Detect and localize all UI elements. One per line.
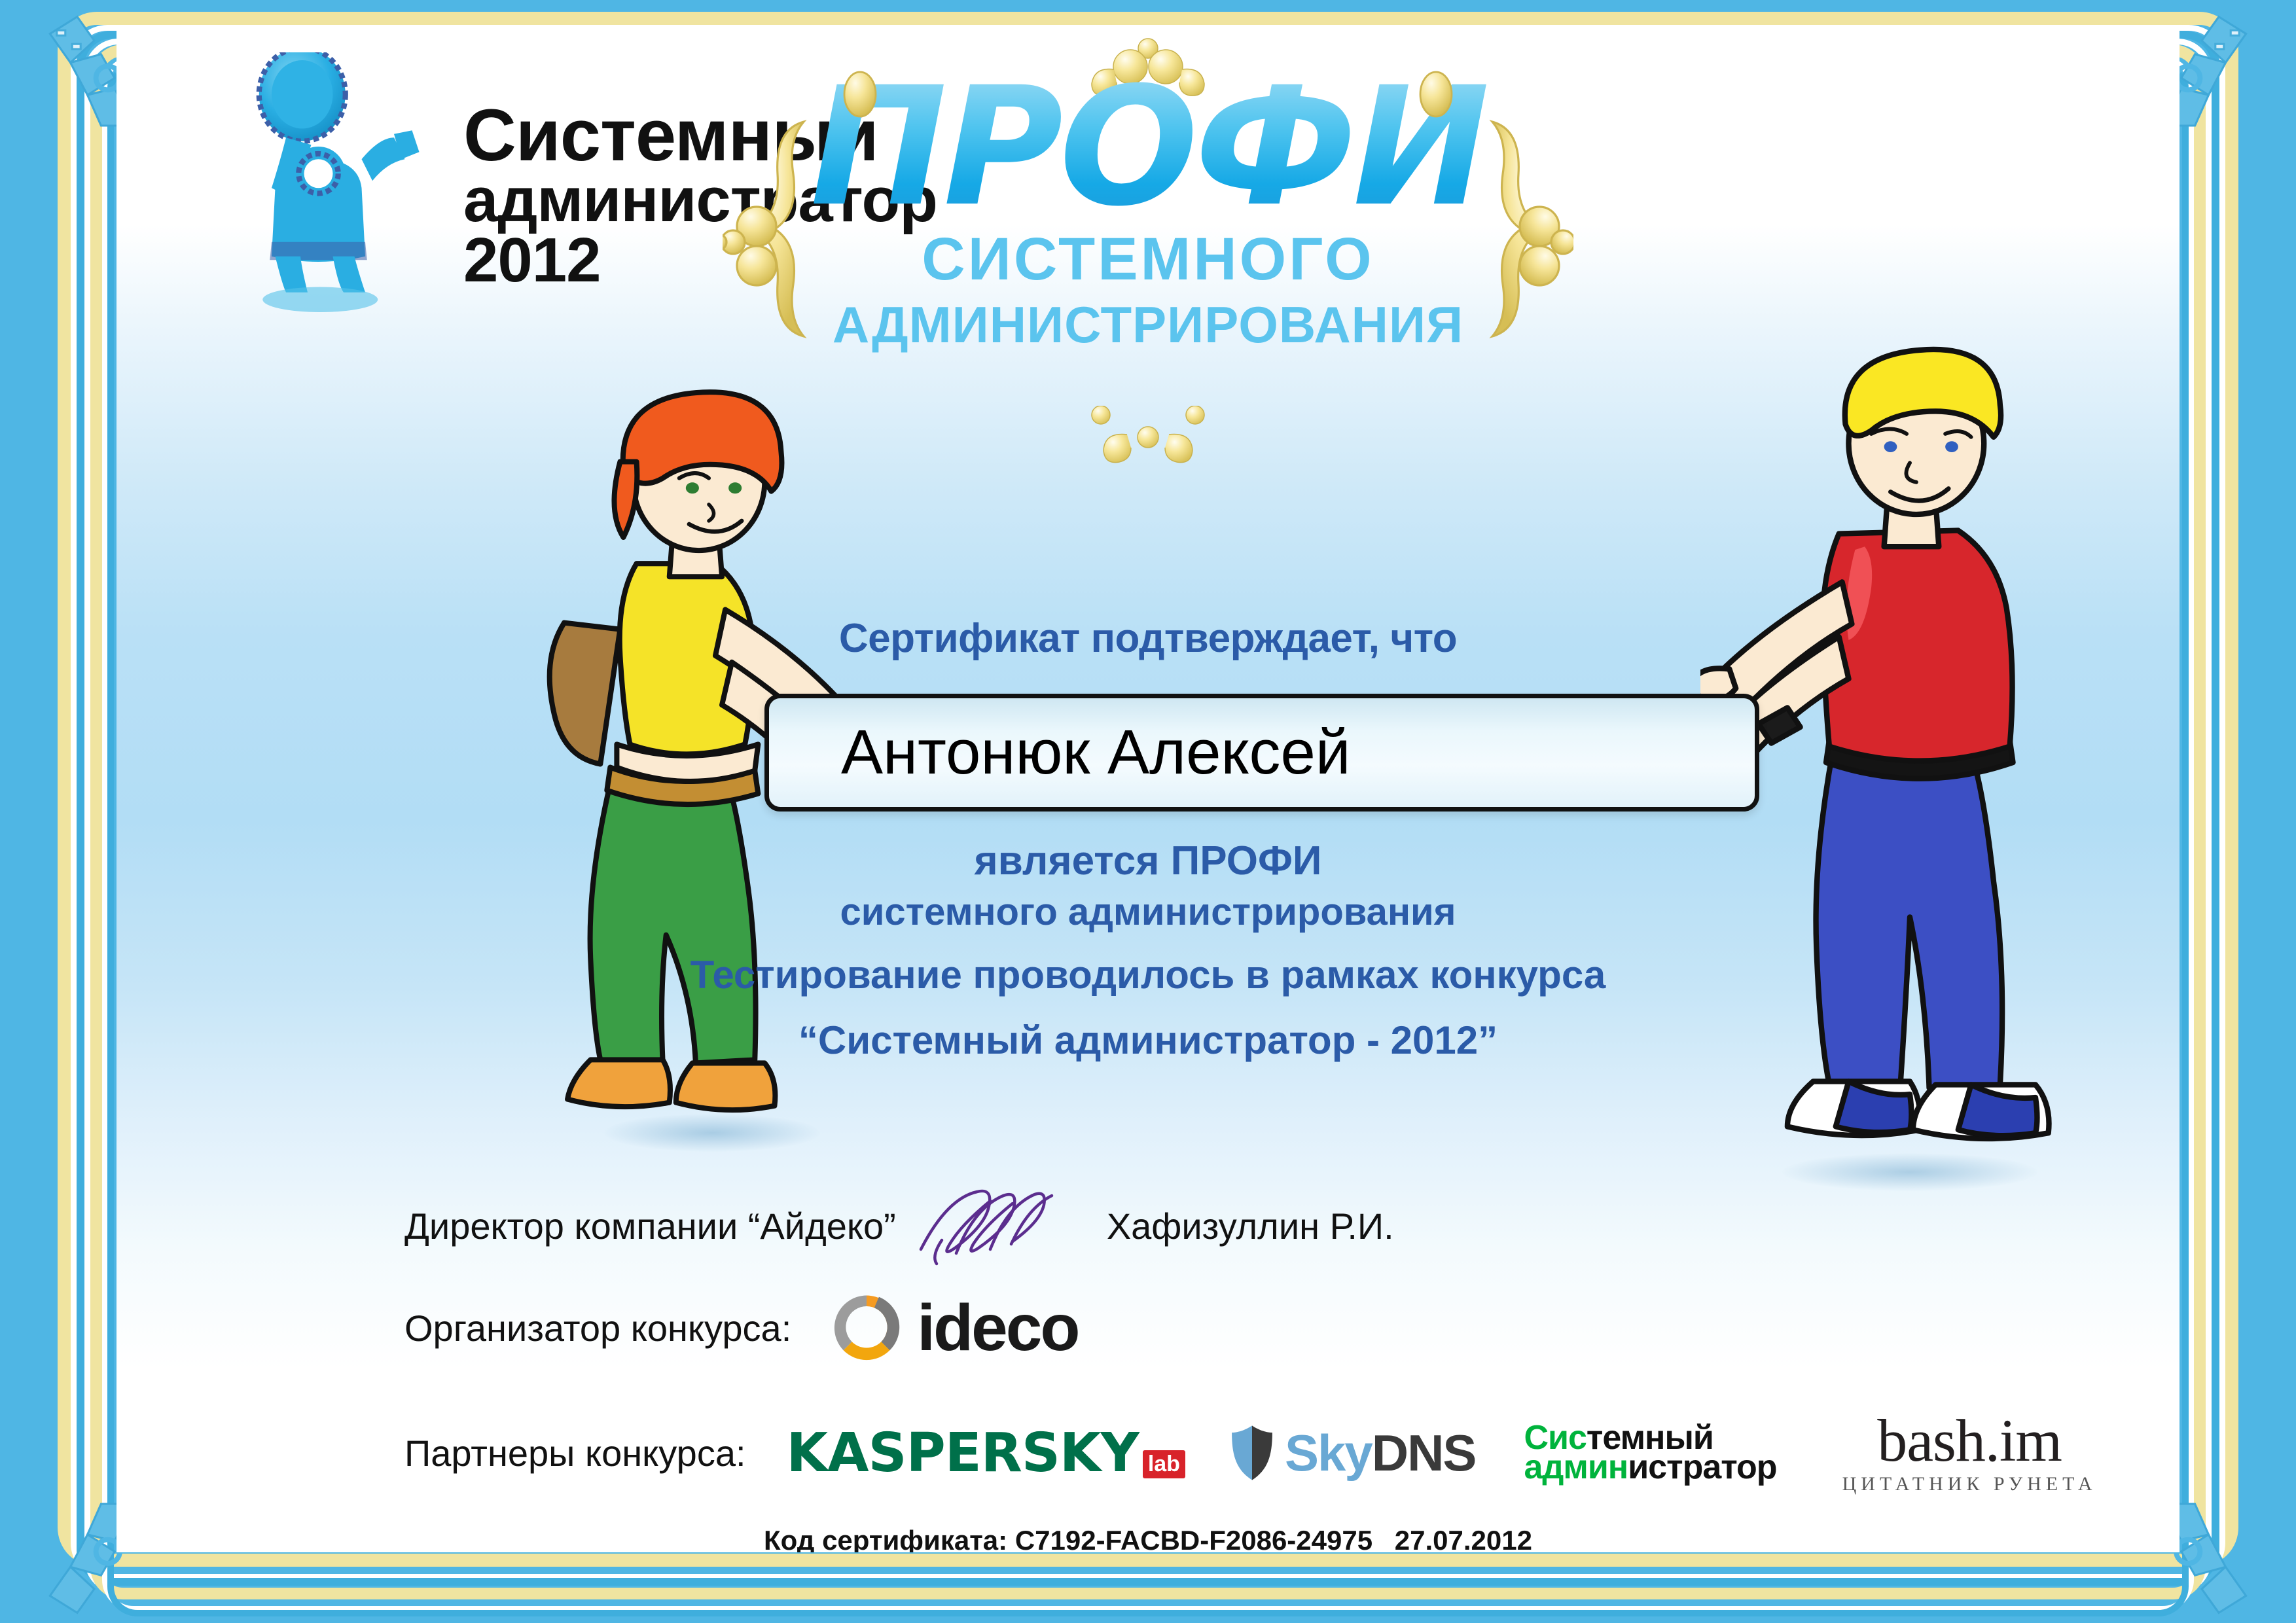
gold-drop-left-icon [840, 65, 880, 124]
kaspersky-lab-badge: lab [1143, 1450, 1185, 1478]
certificate-root: Системный администратор 2012 [0, 0, 2296, 1623]
signature-row: Директор компании “Айдеко” Хафизуллин Р.… [404, 1183, 1583, 1268]
certificate-code-footer: Код сертификата: C7192-FACBD-F2086-24975… [117, 1525, 2179, 1552]
recipient-name: Антонюк Алексей [769, 717, 1351, 789]
of-sysadmin-line: системного администрирования [117, 890, 2179, 934]
sysadmin-mag-row2-green: админ [1524, 1448, 1628, 1486]
gold-bracket-right-icon [1456, 111, 1573, 386]
recipient-name-plate[interactable]: Антонюк Алексей [764, 694, 1759, 811]
skydns-wordmark-dns: DNS [1372, 1424, 1476, 1482]
gold-drop-right-icon [1416, 65, 1456, 124]
bashim-wordmark: bash.im [1842, 1410, 2097, 1471]
sysadmin-magazine-icon: Системный администратор [1524, 1423, 1776, 1482]
director-name: Хафизуллин Р.И. [1107, 1205, 1394, 1247]
testing-line: Тестирование проводилось в рамках конкур… [117, 952, 2179, 997]
partners-row: Партнеры конкурса: KASPERSKY lab SkyDNS [404, 1407, 2097, 1499]
director-label: Директор компании “Айдеко” [404, 1205, 896, 1247]
partner-sysadmin-magazine: Системный администратор [1524, 1423, 1776, 1482]
skydns-wordmark-sky: Sky [1285, 1424, 1372, 1482]
organizer-label: Организатор конкурса: [404, 1307, 791, 1349]
sysadmin-mag-row2-black: истратор [1628, 1448, 1776, 1486]
kaspersky-wordmark: KASPERSKY [787, 1422, 1139, 1484]
partner-skydns: SkyDNS [1229, 1423, 1475, 1483]
organizer-row: Организатор конкурса: ideco [404, 1289, 1078, 1366]
handwritten-signature-icon [913, 1186, 1090, 1265]
issue-date: 27.07.2012 [1395, 1525, 1532, 1552]
ideco-ring-icon [828, 1289, 905, 1366]
profi-subtitle-2: АДМИНИСТРИРОВАНИЯ [762, 295, 1534, 355]
boy-character-icon [1700, 340, 2119, 1191]
ideco-wordmark: ideco [917, 1295, 1078, 1361]
confirm-line: Сертификат подтверждает, что [117, 615, 2179, 662]
contest-name-line: “Системный администратор - 2012” [117, 1018, 2179, 1063]
partner-kaspersky: KASPERSKY lab [787, 1422, 1185, 1484]
bashim-logo-icon: bash.im ЦИТАТНИК РУНЕТА [1842, 1410, 2097, 1495]
partner-bashim: bash.im ЦИТАТНИК РУНЕТА [1842, 1410, 2097, 1495]
is-profi-line: является ПРОФИ [117, 838, 2179, 884]
kaspersky-logo-icon: KASPERSKY lab [787, 1422, 1185, 1484]
gold-bracket-left-icon [723, 111, 840, 386]
code-value: C7192-FACBD-F2086-24975 [1015, 1525, 1372, 1552]
certificate-page: Системный администратор 2012 [117, 26, 2179, 1552]
skydns-shield-icon [1229, 1424, 1276, 1482]
ideco-logo: ideco [828, 1289, 1078, 1366]
eskimo-with-shield-icon [221, 52, 437, 327]
bashim-tagline: ЦИТАТНИК РУНЕТА [1842, 1473, 2097, 1495]
profi-header: ПРОФИ СИСТЕМНОГО АДМИНИСТРИРОВАНИЯ [762, 65, 1534, 355]
code-label: Код сертификата: [764, 1525, 1007, 1552]
gold-flourish-bottom-icon [1050, 406, 1246, 478]
partners-label: Партнеры конкурса: [404, 1432, 746, 1474]
